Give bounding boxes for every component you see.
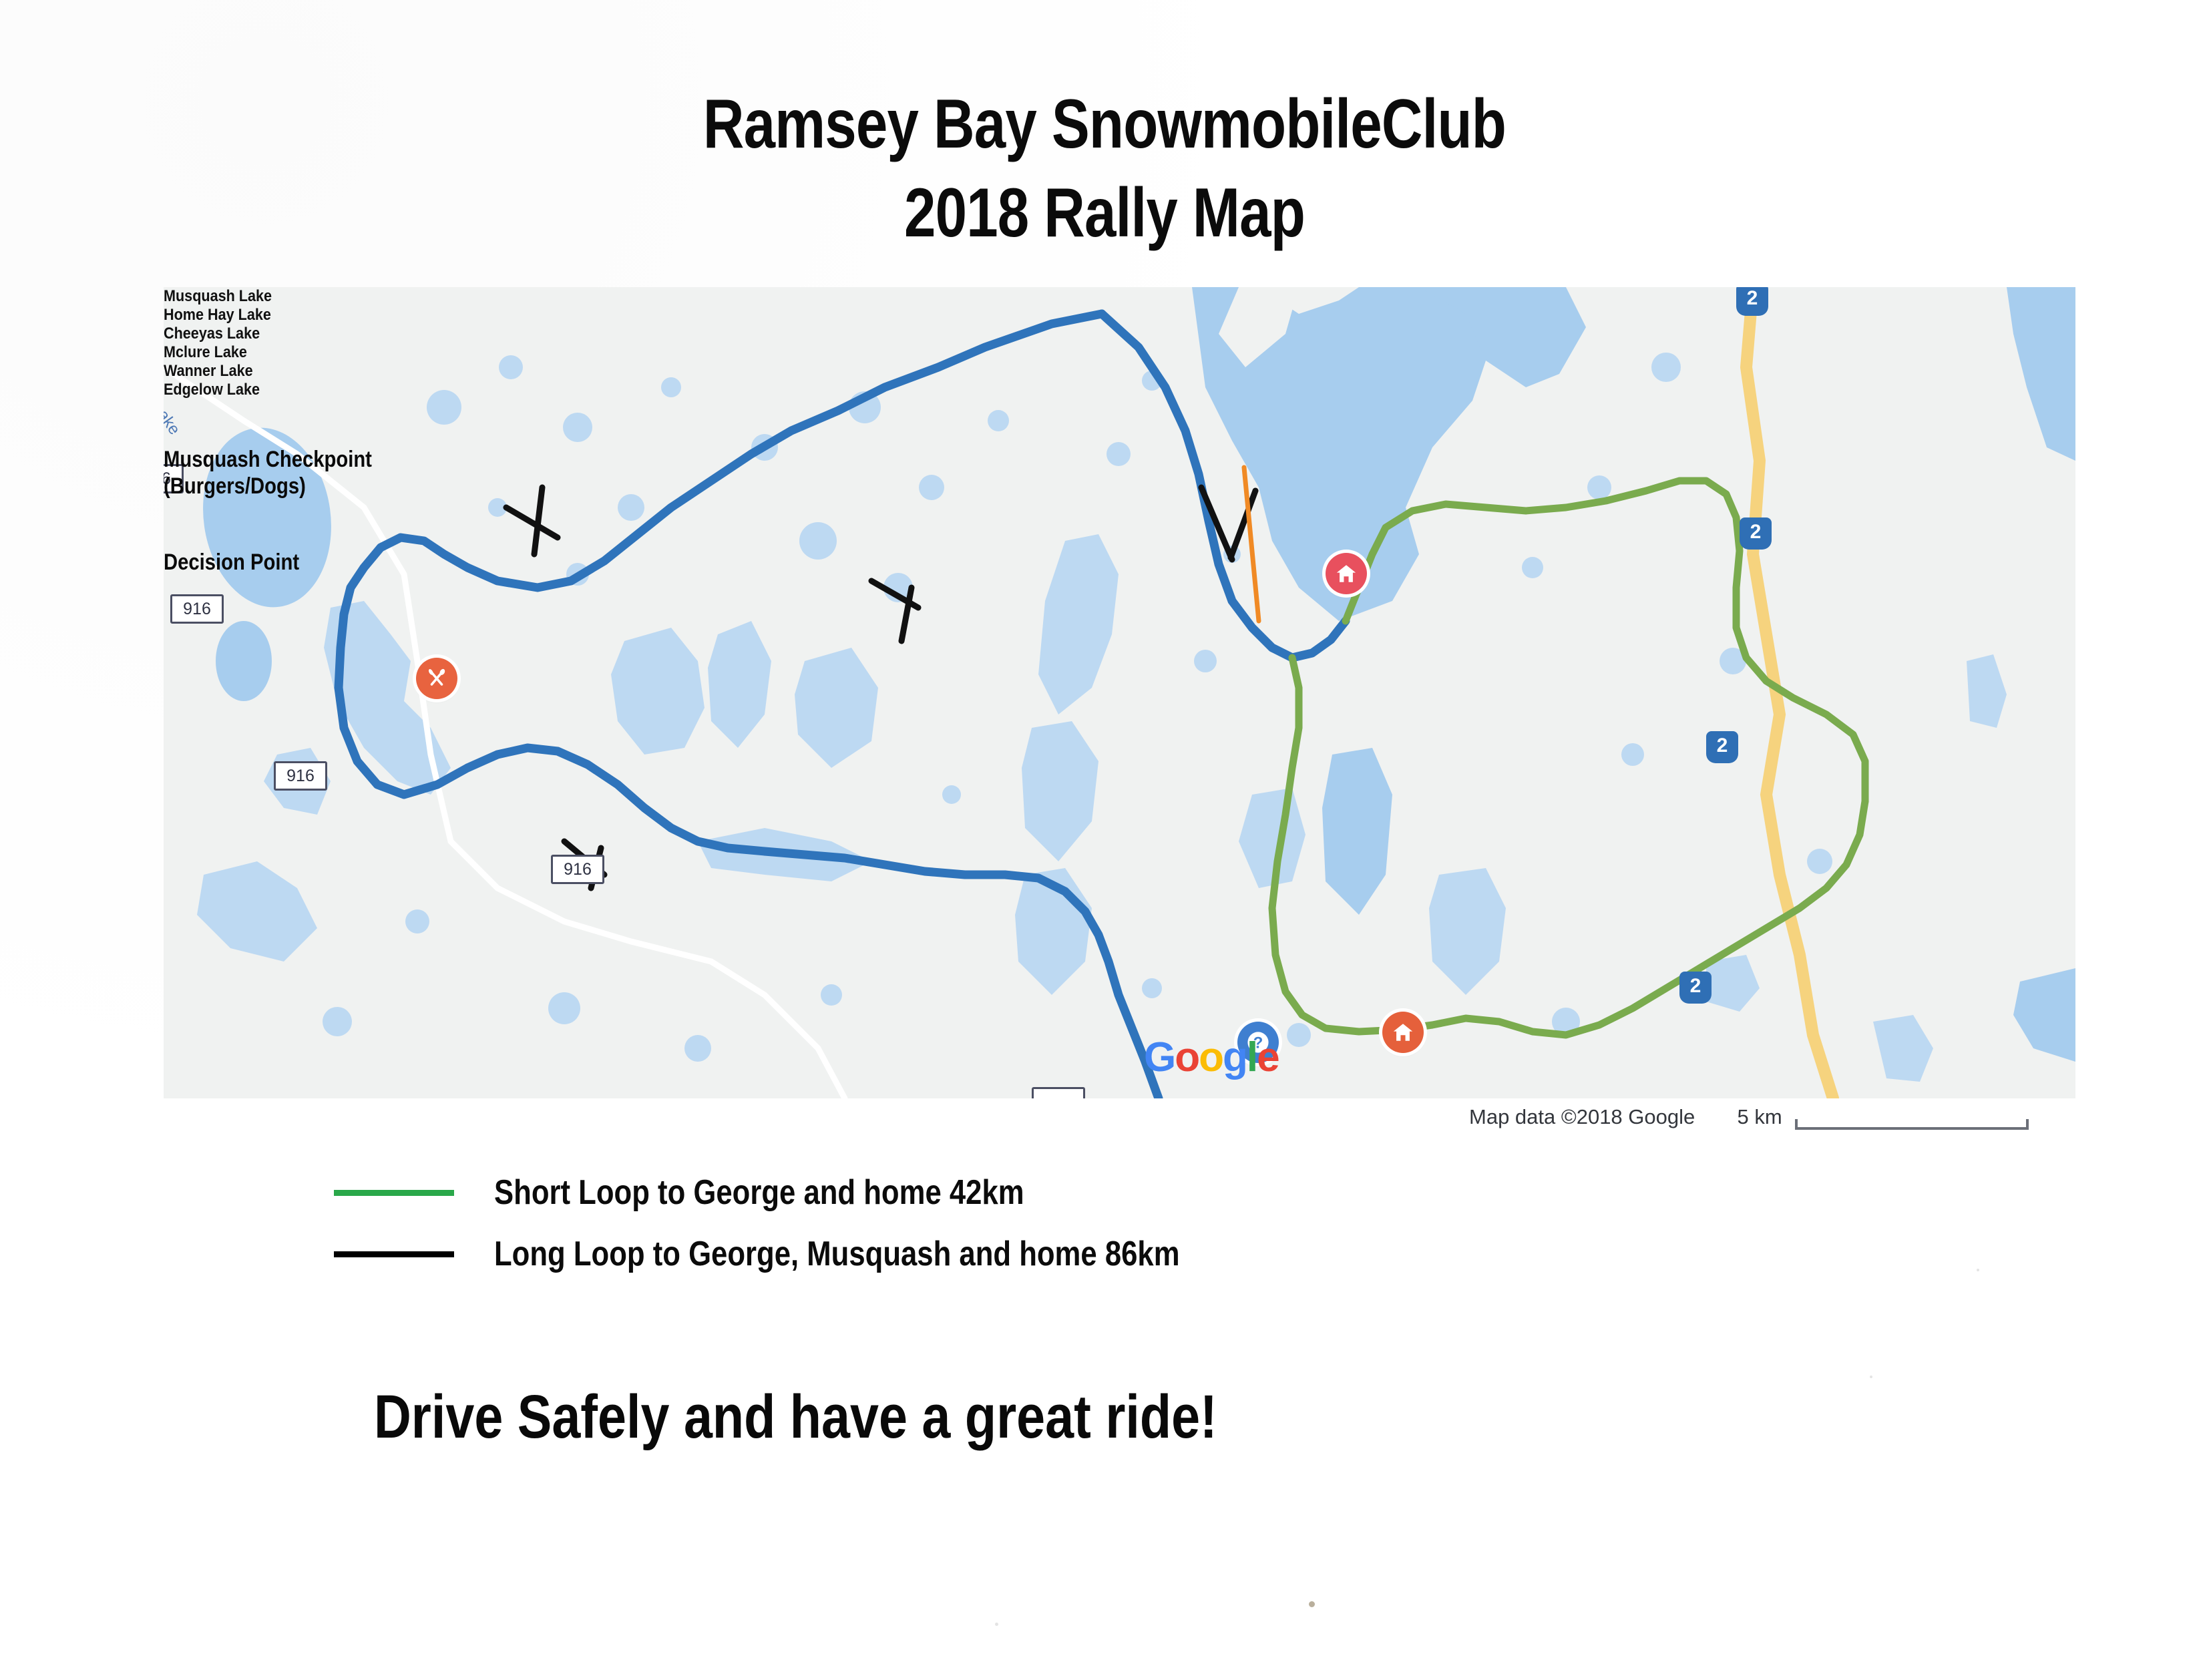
highway-shield-916[interactable]: 916 — [551, 855, 604, 884]
legend-swatch-black — [334, 1251, 454, 1257]
lake-label-home-hay: Home Hay Lake — [164, 306, 1884, 325]
legend-swatch-green — [334, 1190, 454, 1196]
lake-label-mclure: Mclure Lake — [164, 343, 1884, 362]
tagline: Drive Safely and have a great ride! — [374, 1382, 1217, 1452]
lake-label-cheeyas: Cheeyas Lake — [164, 325, 1884, 343]
scan-speck — [1977, 1269, 1979, 1271]
scan-speck — [1309, 1601, 1315, 1607]
legend-label-long-loop: Long Loop to George, Musquash and home 8… — [494, 1234, 1180, 1274]
lake-label-musquash: Musquash Lake — [164, 287, 1884, 306]
legend-label-short-loop: Short Loop to George and home 42km — [494, 1173, 1024, 1213]
legend: Short Loop to George and home 42km Long … — [334, 1162, 1310, 1285]
google-logo-o1: o — [1175, 1034, 1199, 1081]
highway-shield-2[interactable]: 2 — [1740, 517, 1772, 550]
map-attribution: Map data ©2018 Google 5 km — [1469, 1105, 1782, 1129]
map-scale-bar — [1795, 1119, 2029, 1130]
highway-shield-2[interactable]: 2 — [1706, 731, 1738, 763]
attribution-text: Map data ©2018 Google — [1469, 1105, 1695, 1128]
scale-label: 5 km — [1738, 1105, 1782, 1128]
highway-shield-2[interactable]: 2 — [1679, 972, 1712, 1004]
lake-label-wanner: Wanner Lake — [164, 362, 1884, 381]
highway-shield-916[interactable]: 916 — [274, 761, 327, 791]
google-logo-o2: o — [1199, 1034, 1223, 1081]
musquash-checkpoint-name: Musquash Checkpoint — [164, 446, 1808, 473]
highway-shield-916[interactable]: 916 — [170, 594, 224, 624]
highway-shield-916-clipped[interactable] — [1032, 1087, 1085, 1098]
scan-speck — [1870, 1376, 1872, 1378]
google-logo-l: l — [1247, 1034, 1257, 1081]
google-logo-e: e — [1257, 1034, 1278, 1081]
legend-item-short-loop: Short Loop to George and home 42km — [334, 1162, 1310, 1223]
legend-item-long-loop: Long Loop to George, Musquash and home 8… — [334, 1223, 1310, 1285]
musquash-checkpoint-detail: (Burgers/Dogs) — [164, 473, 1808, 499]
page-title: Ramsey Bay SnowmobileClub 2018 Rally Map — [0, 80, 2209, 258]
title-line-1: Ramsey Bay SnowmobileClub — [199, 80, 2011, 169]
george-lake-checkpoint-marker[interactable] — [1382, 1012, 1424, 1053]
musquash-checkpoint-label: Musquash Checkpoint (Burgers/Dogs) — [164, 446, 1808, 499]
decision-point-label: Decision Point — [164, 549, 1808, 576]
restaurant-icon — [425, 666, 449, 690]
title-line-2: 2018 Rally Map — [199, 169, 2011, 258]
google-logo: Google — [1144, 1034, 1279, 1081]
home-icon — [1392, 1021, 1414, 1044]
google-logo-g1: G — [1144, 1034, 1175, 1081]
google-logo-g2: g — [1223, 1034, 1247, 1081]
scan-speck — [995, 1623, 998, 1626]
musquash-checkpoint-marker[interactable] — [416, 658, 457, 699]
map-canvas[interactable]: 916 916 916 916 2 2 2 2 Musquash Lake Ho… — [164, 287, 2075, 1098]
lake-label-edgelow: Edgelow Lake — [164, 381, 1884, 399]
